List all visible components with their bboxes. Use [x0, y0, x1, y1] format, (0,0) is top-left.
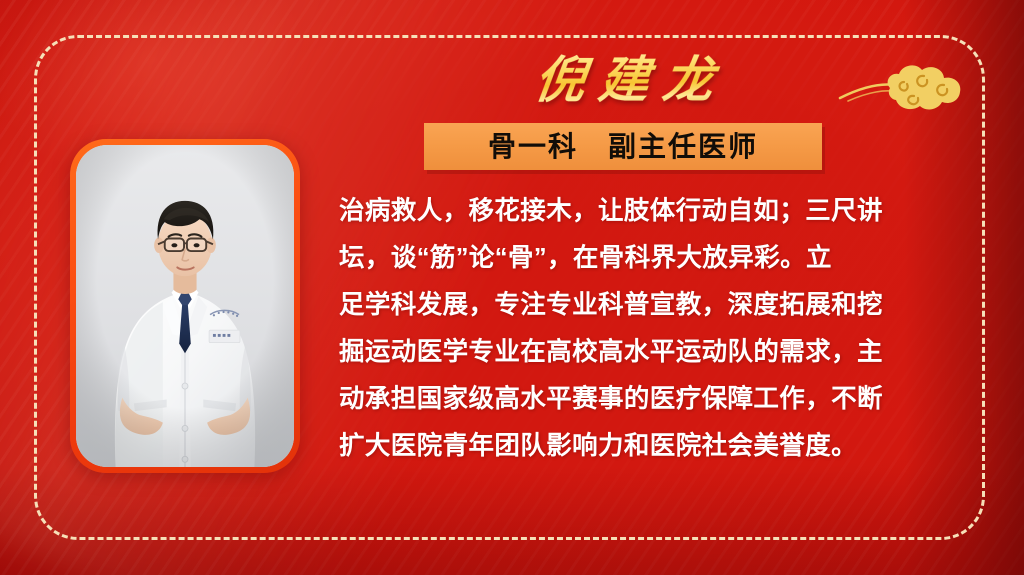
bio-line: 动承担国家级高水平赛事的医疗保障工作，不断: [339, 376, 903, 423]
doctor-profile-card: 倪建龙 骨一科 副主任医师 治病救人，移花接木，让肢体行动自如；三尺讲 坛，谈“…: [0, 0, 1024, 575]
bio-line: 扩大医院青年团队影响力和医院社会美誉度。: [339, 423, 903, 470]
doctor-portrait-frame: [70, 139, 300, 473]
auspicious-cloud-icon: [838, 52, 986, 124]
bio-line: 治病救人，移花接木，让肢体行动自如；三尺讲: [339, 188, 903, 235]
title-bar: 骨一科 副主任医师: [424, 123, 822, 170]
title-bar-text: 骨一科 副主任医师: [488, 133, 758, 161]
doctor-portrait: [76, 145, 294, 467]
bio-line: 坛，谈“筋”论“骨”，在骨科界大放异彩。立: [339, 235, 903, 282]
doctor-name: 倪建龙: [420, 46, 828, 114]
bio-line: 足学科发展，专注专业科普宣教，深度拓展和挖: [339, 282, 903, 329]
doctor-bio: 治病救人，移花接木，让肢体行动自如；三尺讲 坛，谈“筋”论“骨”，在骨科界大放异…: [339, 188, 903, 470]
bio-line: 掘运动医学专业在高校高水平运动队的需求，主: [339, 329, 903, 376]
